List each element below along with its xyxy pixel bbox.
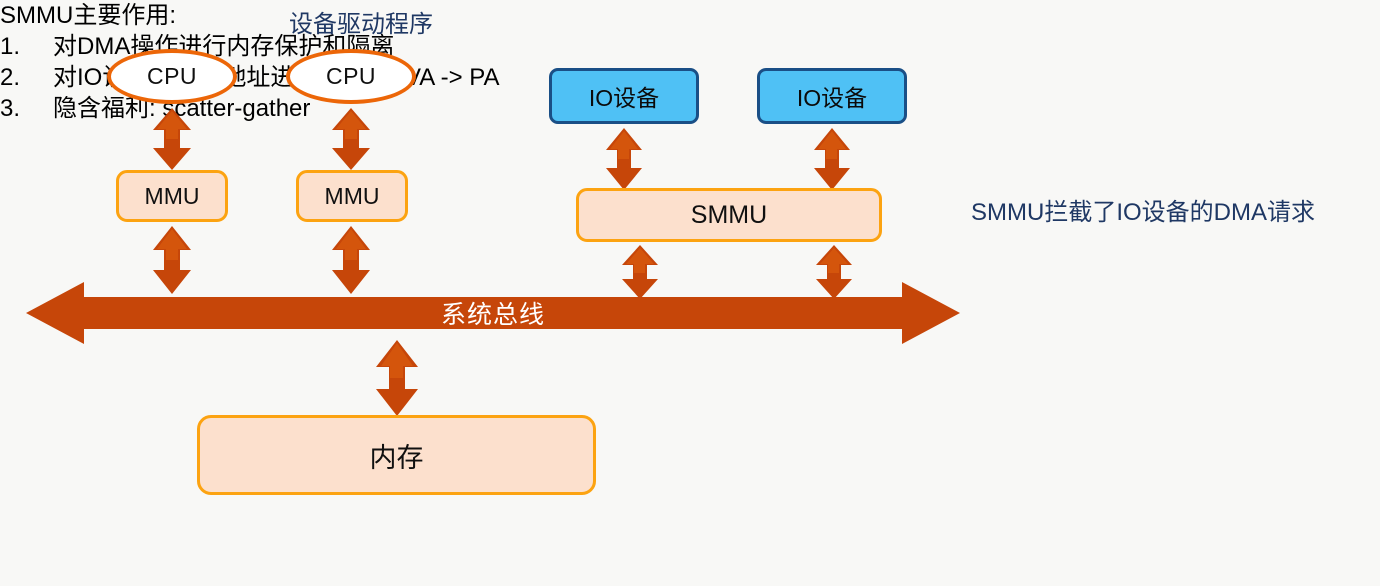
memory-node[interactable]: 内存 <box>197 415 596 495</box>
roles-title: SMMU主要作用: <box>0 0 560 31</box>
mmu-label: MMU <box>325 183 380 210</box>
role-item-2: 2. 对IO设备的虚拟地址进行转换, IOVA -> PA <box>0 62 560 93</box>
role-item-1: 1. 对DMA操作进行内存保护和隔离 <box>0 31 560 62</box>
memory-label: 内存 <box>370 436 424 475</box>
smmu-note-text: SMMU拦截了IO设备的DMA请求 <box>971 192 1315 227</box>
diagram-title: 设备驱动程序 <box>289 4 433 39</box>
io-device-node-1[interactable]: IO设备 <box>549 68 699 124</box>
mmu-node-1[interactable]: MMU <box>116 170 228 222</box>
mmu-label: MMU <box>145 183 200 210</box>
role-text: 隐含福利: scatter-gather <box>53 93 560 124</box>
arrow-io1-smmu <box>604 128 644 190</box>
cpu-label: CPU <box>326 63 376 90</box>
cpu-node-1[interactable]: CPU <box>107 49 237 104</box>
smmu-roles-block: SMMU主要作用: 1. 对DMA操作进行内存保护和隔离 2. 对IO设备的虚拟… <box>0 0 560 124</box>
cpu-label: CPU <box>147 63 197 90</box>
diagram-canvas: 设备驱动程序 CPU CPU MMU MMU <box>0 0 1380 586</box>
io-device-label: IO设备 <box>589 79 659 113</box>
role-number: 2. <box>0 62 53 93</box>
smmu-node[interactable]: SMMU <box>576 188 882 242</box>
role-number: 3. <box>0 93 53 124</box>
arrow-cpu2-mmu2 <box>330 108 372 170</box>
io-device-label: IO设备 <box>797 79 867 113</box>
mmu-node-2[interactable]: MMU <box>296 170 408 222</box>
arrow-io2-smmu <box>812 128 852 190</box>
role-item-3: 3. 隐含福利: scatter-gather <box>0 93 560 124</box>
arrow-bus-memory <box>374 340 420 416</box>
role-number: 1. <box>0 31 53 62</box>
smmu-label: SMMU <box>691 201 767 230</box>
arrow-cpu1-mmu1 <box>151 108 193 170</box>
system-bus[interactable]: 系统总线 <box>26 282 960 344</box>
io-device-node-2[interactable]: IO设备 <box>757 68 907 124</box>
cpu-node-2[interactable]: CPU <box>286 49 416 104</box>
